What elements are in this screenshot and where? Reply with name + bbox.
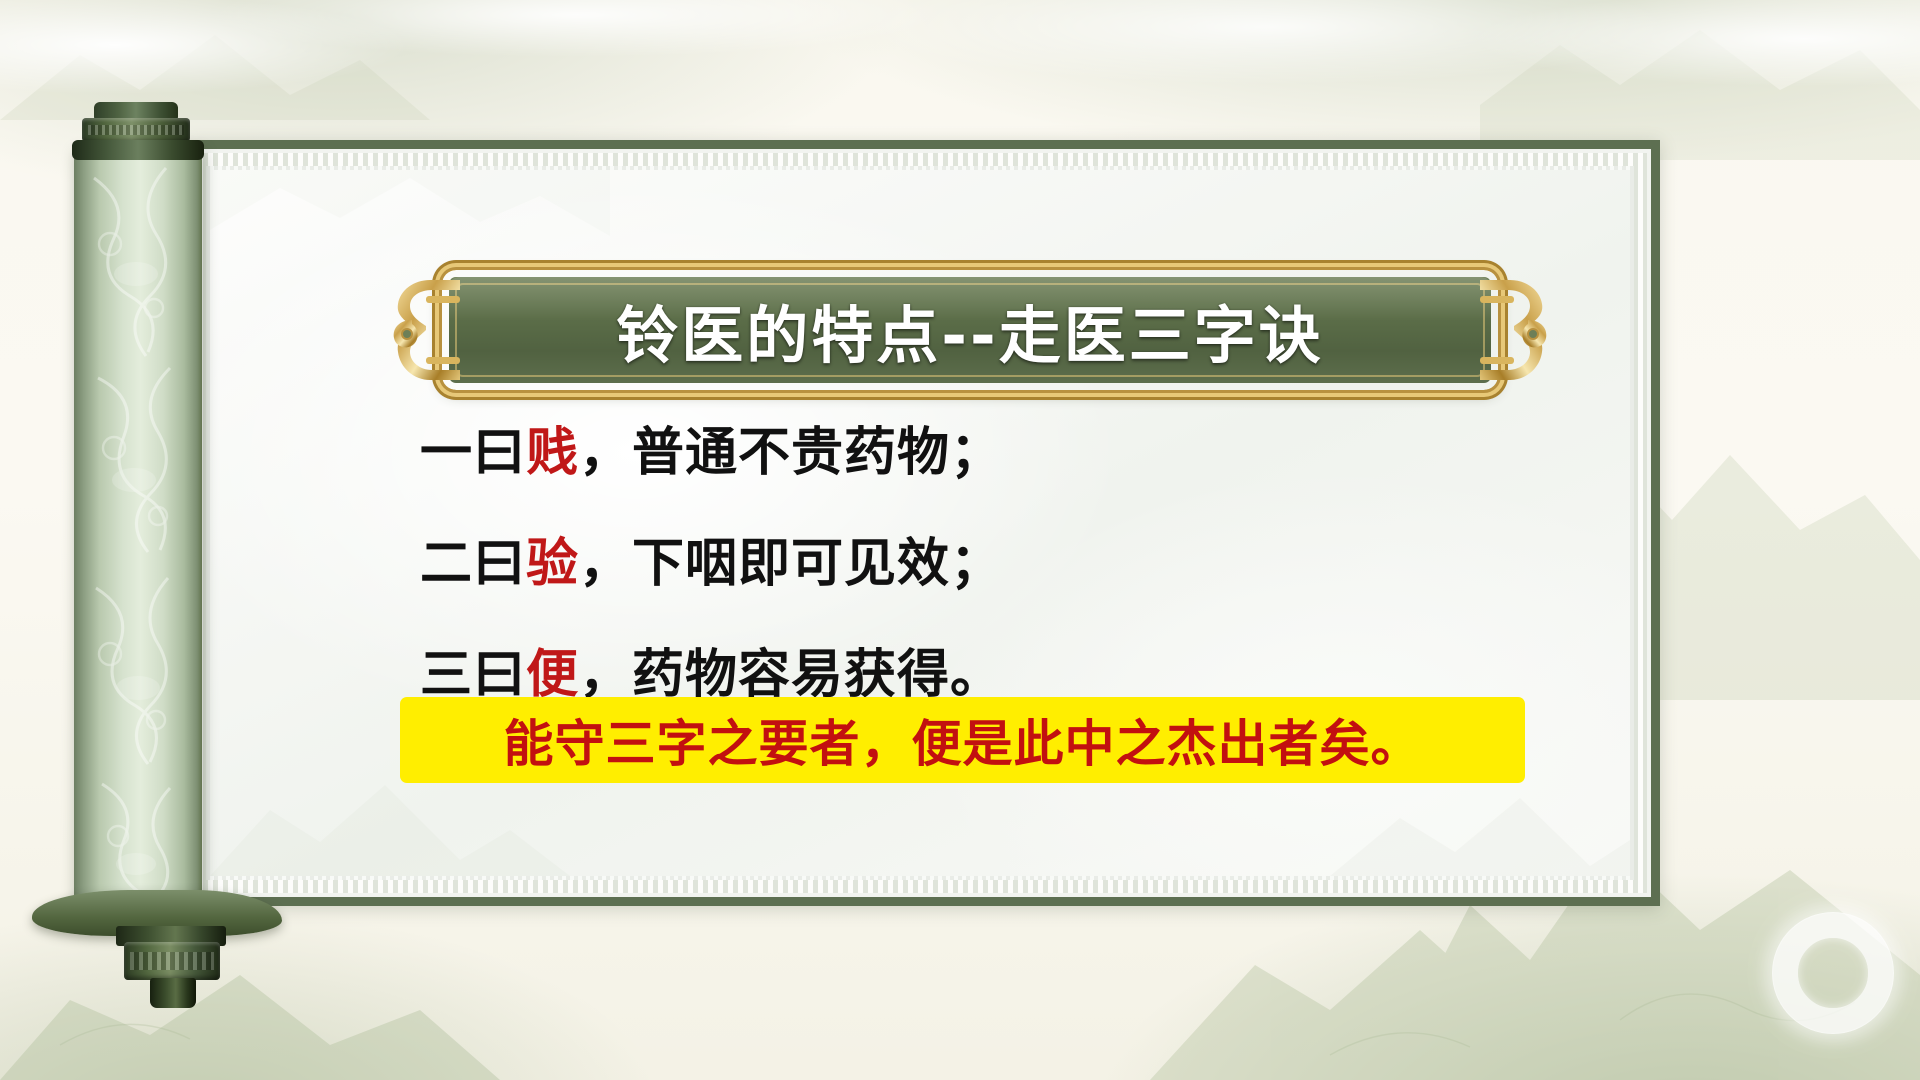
scroll-knob-top-flare <box>72 140 204 160</box>
highlight-box: 能守三字之要者，便是此中之杰出者矣。 <box>400 697 1525 783</box>
scroll-knob-bottom <box>32 890 282 1020</box>
body-line-2: 二曰验，下咽即可见效； <box>420 536 1560 593</box>
scroll-knob-bottom-ring <box>124 942 220 980</box>
highlight-text: 能守三字之要者，便是此中之杰出者矣。 <box>504 704 1422 776</box>
body-line-2-prefix: 二曰 <box>420 534 526 594</box>
body-line-2-suffix: ，下咽即可见效； <box>579 534 1003 594</box>
scroll-roller <box>74 148 202 900</box>
scroll-knob-top-ring <box>82 118 190 142</box>
page-title: 铃医的特点--走医三字诀 <box>442 270 1498 390</box>
scroll-roller-floral-pattern <box>74 148 202 900</box>
scroll-paper: 铃医的特点--走医三字诀 一曰贱，普通不贵药物； 二曰验，下咽即可见效； 三曰便… <box>180 140 1660 906</box>
scroll-container: 铃医的特点--走医三字诀 一曰贱，普通不贵药物； 二曰验，下咽即可见效； 三曰便… <box>60 100 1660 960</box>
scroll-knob-top <box>62 100 212 160</box>
body-line-1-suffix: ，普通不贵药物； <box>579 423 1003 483</box>
paper-inner-field: 铃医的特点--走医三字诀 一曰贱，普通不贵药物； 二曰验，下咽即可见效； 三曰便… <box>210 170 1630 876</box>
body-line-3: 三曰便，药物容易获得。 <box>420 647 1560 704</box>
title-plaque: 铃医的特点--走医三字诀 <box>390 270 1550 390</box>
body-line-2-accent: 验 <box>526 534 579 594</box>
scroll-knob-bottom-cap <box>150 978 196 1008</box>
body-line-1-prefix: 一曰 <box>420 423 526 483</box>
body-line-1: 一曰贱，普通不贵药物； <box>420 425 1560 482</box>
jade-ring-watermark-icon <box>1772 912 1894 1034</box>
body-line-1-accent: 贱 <box>526 423 579 483</box>
